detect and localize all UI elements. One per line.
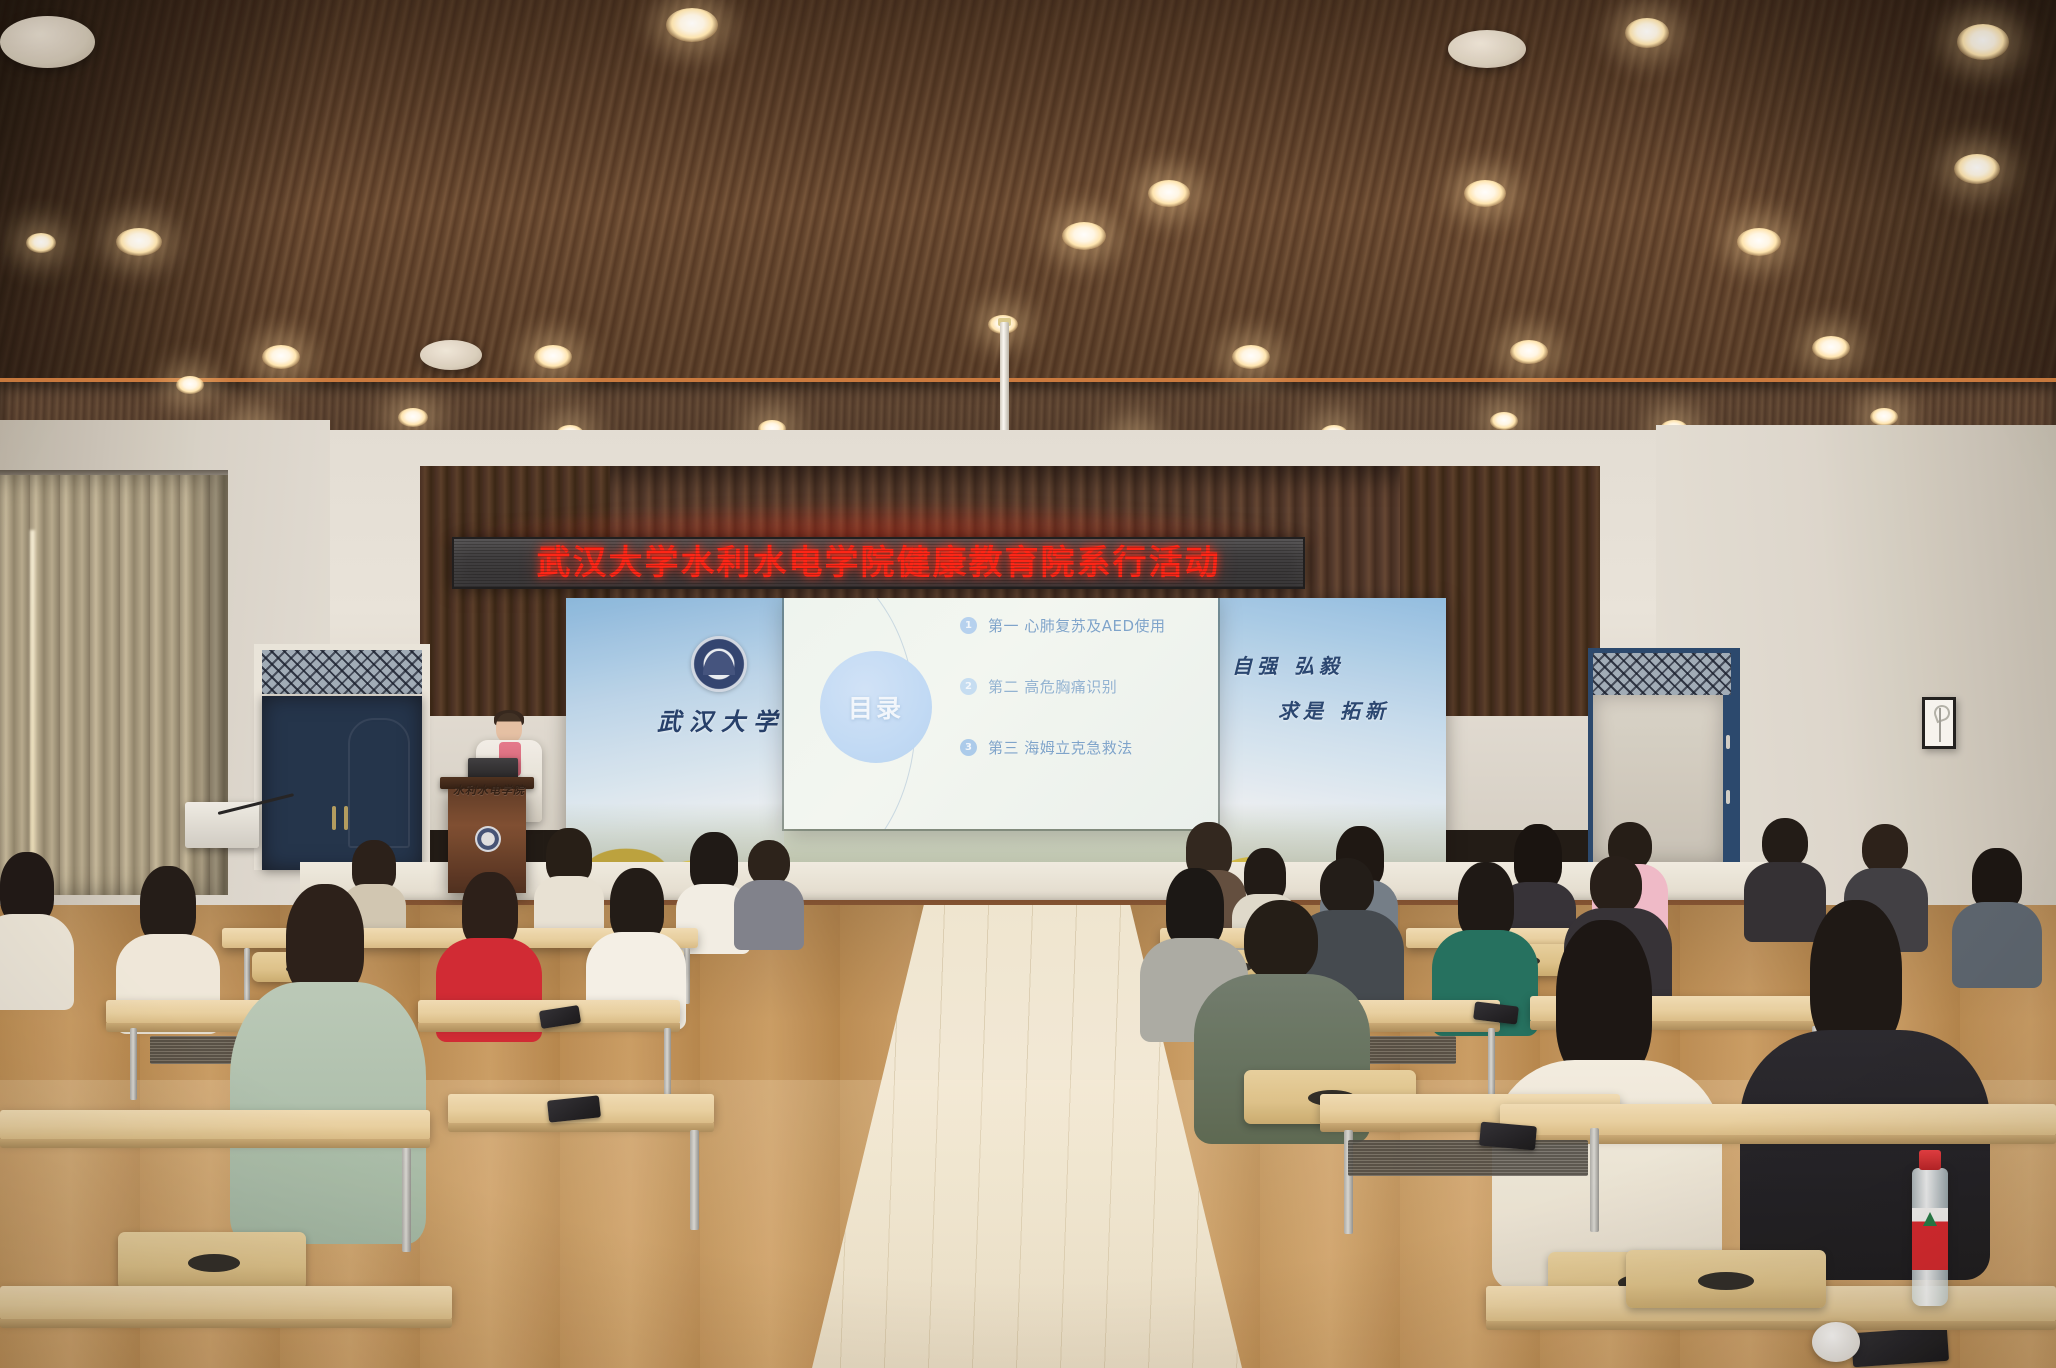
slide-toc-label: 目录: [848, 689, 904, 725]
left-door[interactable]: [262, 696, 422, 870]
led-banner-text: 武汉大学水利水电学院健康教育院系行活动: [537, 546, 1221, 580]
curtain-light-gap: [30, 530, 35, 860]
person-body: [734, 880, 804, 950]
ceiling-downlight: [262, 345, 300, 369]
mobile-phone: [1851, 1327, 1949, 1368]
presenter-head: [496, 713, 522, 743]
ceiling-downlight: [1957, 24, 2009, 60]
desk-edge: [448, 1123, 714, 1132]
left-door-handle[interactable]: [332, 806, 336, 830]
slide-item-label: 第三 海姆立克急救法: [988, 737, 1133, 758]
slide-item-number: 2: [960, 678, 977, 695]
student-desk: [0, 1110, 430, 1140]
left-door-panel: [348, 718, 410, 848]
person-head: [1862, 824, 1908, 874]
person-hair: [140, 866, 196, 944]
ceiling-speaker-icon: [1448, 30, 1526, 68]
right-doorway-transom-grille: [1593, 653, 1731, 695]
desk-leg: [1488, 1028, 1495, 1100]
motto-line-1: 自强 弘毅: [1232, 654, 1344, 678]
desk-leg: [402, 1148, 411, 1252]
water-bottle-label: [1912, 1208, 1948, 1270]
ceiling-downlight: [26, 233, 56, 253]
slide-item-number: 3: [960, 739, 977, 756]
list-item: 1 第一 心肺复苏及AED使用: [960, 615, 1210, 636]
person-hair: [1972, 848, 2022, 910]
person-head: [1244, 900, 1318, 982]
chair-slot: [1698, 1272, 1754, 1290]
ceiling-downlight: [1870, 408, 1898, 426]
student-desk: [1500, 1104, 2056, 1136]
whu-seal-icon: [691, 636, 747, 692]
desk-edge: [0, 1139, 430, 1148]
lecture-hall-photo: 武汉大学水利水电学院健康教育院系行活动 武汉大学 自强 弘毅 求是 拓新 目录 …: [0, 0, 2056, 1368]
podium-seal-icon: [475, 826, 501, 852]
ceiling-speaker-icon: [420, 340, 482, 370]
ceiling-downlight: [666, 8, 718, 42]
person-hair: [462, 872, 518, 948]
desk-leg: [690, 1130, 699, 1230]
ceiling-downlight: [1464, 180, 1506, 207]
person-head: [1320, 858, 1374, 916]
framed-botanical-print: [1922, 697, 1956, 749]
ceiling-downlight: [1737, 228, 1781, 256]
person-hair: [1458, 862, 1514, 940]
motto-line-2: 求是 拓新: [1232, 695, 1422, 724]
ceiling-downlight: [1812, 336, 1850, 360]
person-hair: [1810, 900, 1902, 1050]
person-body: [0, 914, 74, 1010]
university-name: 武汉大学: [638, 702, 804, 737]
projector-pole: [1000, 322, 1009, 440]
slide-item-number: 1: [960, 617, 977, 634]
ceiling-downlight: [398, 408, 428, 427]
person-hair: [1166, 868, 1224, 948]
ceiling-downlight: [1232, 345, 1270, 369]
podium-label: 水利水电学院: [443, 782, 535, 798]
ceiling-downlight: [1490, 412, 1518, 430]
ceiling-speaker-icon: [0, 16, 95, 68]
person-head: [1762, 818, 1808, 868]
desk-edge: [1486, 1321, 2056, 1330]
chair-slot: [188, 1254, 240, 1272]
university-motto: 自强 弘毅 求是 拓新: [1232, 650, 1422, 724]
ceiling-downlight: [1510, 340, 1548, 364]
whu-seal-pavilion: [703, 651, 735, 675]
desk-basket: [1348, 1140, 1588, 1176]
ceiling-downlight: [1625, 18, 1669, 48]
ceiling-downlight: [176, 376, 204, 394]
person-hair: [1556, 920, 1652, 1080]
person-hair: [690, 832, 738, 892]
water-bottle-cap: [1919, 1150, 1941, 1170]
desk-leg: [130, 1028, 137, 1100]
person-body: [1744, 862, 1826, 942]
ceiling-downlight: [116, 228, 162, 256]
desk-leg: [664, 1028, 671, 1100]
person-head: [1590, 856, 1642, 914]
right-doorway-jamb: [1723, 695, 1733, 863]
chair-back: [1626, 1250, 1826, 1308]
person-hair: [286, 884, 364, 996]
list-item: 2 第二 高危胸痛识别: [960, 676, 1210, 697]
ceiling-downlight: [1062, 222, 1106, 250]
right-doorway-hinge: [1726, 735, 1730, 749]
left-door-handle[interactable]: [344, 806, 348, 830]
desk-edge: [0, 1319, 452, 1328]
person-body: [1740, 1030, 1990, 1280]
slide-item-label: 第一 心肺复苏及AED使用: [988, 615, 1166, 636]
ceiling-downlight: [1148, 180, 1190, 207]
projected-slide: 目录 1 第一 心肺复苏及AED使用 2 第二 高危胸痛识别 3 第三 海姆立克…: [784, 598, 1218, 829]
desk-leg: [1590, 1128, 1599, 1232]
list-item: 3 第三 海姆立克急救法: [960, 737, 1210, 758]
right-doorway-hinge: [1726, 790, 1730, 804]
person-hair: [610, 868, 664, 942]
stage-monitor: [185, 802, 259, 848]
slide-toc-circle: 目录: [820, 651, 932, 763]
ceiling-downlight: [534, 345, 572, 369]
led-banner: 武汉大学水利水电学院健康教育院系行活动: [452, 537, 1305, 589]
slide-item-label: 第二 高危胸痛识别: [988, 676, 1117, 697]
ceiling-downlight: [1954, 154, 2000, 184]
slide-toc-list: 1 第一 心肺复苏及AED使用 2 第二 高危胸痛识别 3 第三 海姆立克急救法: [960, 615, 1210, 798]
person-body: [1952, 902, 2042, 988]
student-desk: [0, 1286, 452, 1320]
mobile-phone: [1479, 1122, 1537, 1151]
person-hair: [1514, 824, 1562, 890]
desk-leg: [244, 948, 250, 1004]
cup-lid: [1812, 1322, 1860, 1362]
chair-back: [118, 1232, 306, 1290]
left-door-transom-grille: [262, 650, 422, 694]
